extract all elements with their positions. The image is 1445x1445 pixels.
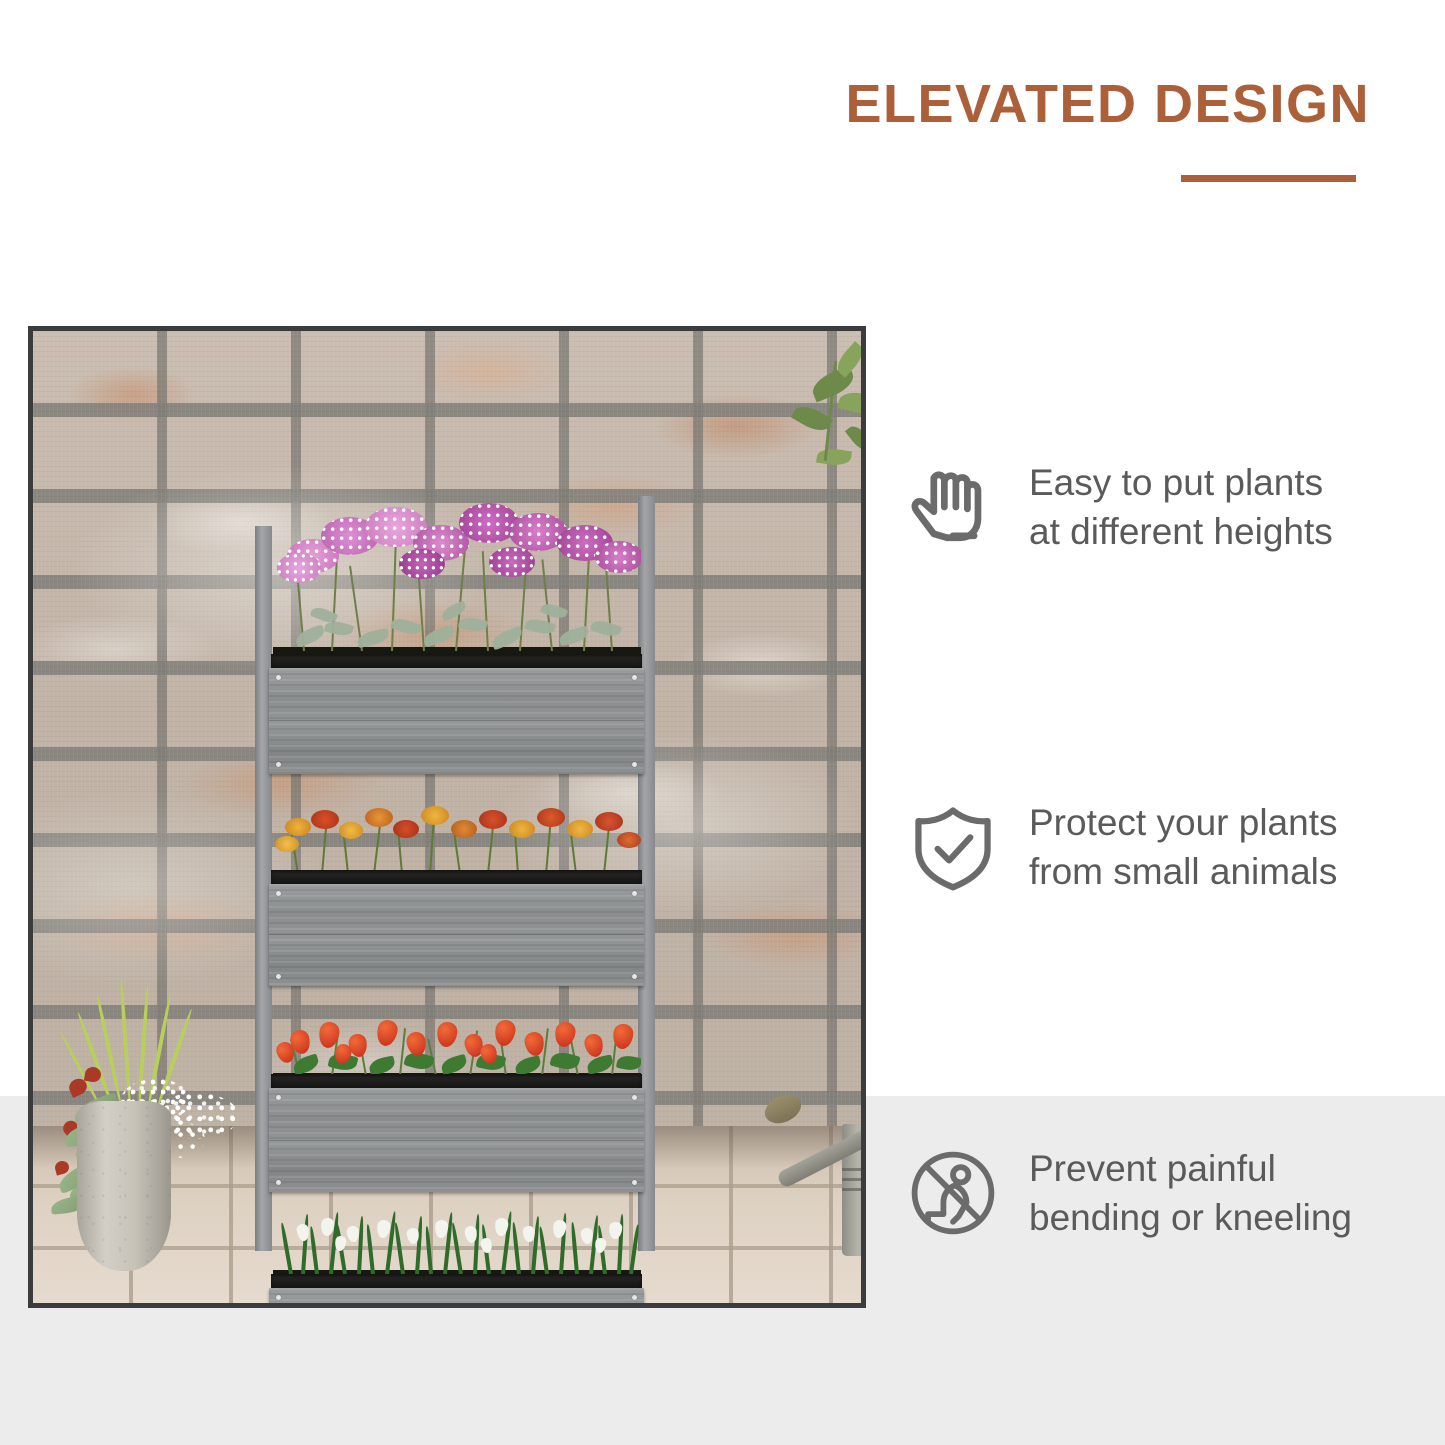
shield-check-icon: [905, 799, 1001, 895]
feature-text: Protect your plants from small animals: [1029, 798, 1337, 896]
title-underline-rule: [1181, 175, 1356, 182]
photo-scene: [33, 331, 861, 1303]
planter-panel-1: [269, 668, 644, 774]
feature-item-easy-heights: Easy to put plants at different heights: [905, 442, 1405, 572]
plant-bed-snowdrops: [273, 1196, 641, 1284]
feature-text: Prevent painful bending or kneeling: [1029, 1144, 1352, 1242]
hand-icon: [905, 459, 1001, 555]
marketing-image-root: ELEVATED DESIGN Easy to put plants at di…: [0, 0, 1445, 1445]
feature-line-1: Prevent painful: [1029, 1144, 1352, 1193]
feature-line-2: bending or kneeling: [1029, 1193, 1352, 1242]
page-title: ELEVATED DESIGN: [800, 72, 1370, 136]
planter-panel-3: [269, 1088, 644, 1192]
watering-can: [828, 1086, 861, 1256]
plant-bed-verbena: [273, 491, 641, 661]
plant-bed-marigold: [273, 774, 641, 882]
planter-panel-2: [269, 884, 644, 986]
feature-item-protect-plants: Protect your plants from small animals: [905, 782, 1405, 912]
planter-panel-4: [269, 1288, 644, 1303]
feature-line-2: at different heights: [1029, 507, 1333, 556]
feature-text: Easy to put plants at different heights: [1029, 458, 1333, 556]
feature-line-2: from small animals: [1029, 847, 1337, 896]
product-photo: [28, 326, 866, 1308]
stone-vase: [77, 1101, 171, 1271]
feature-line-1: Easy to put plants: [1029, 458, 1333, 507]
no-bending-icon: [905, 1145, 1001, 1241]
plant-bed-strawberry: [273, 986, 641, 1086]
feature-item-no-bending: Prevent painful bending or kneeling: [905, 1128, 1405, 1258]
feature-line-1: Protect your plants: [1029, 798, 1337, 847]
raised-garden-planter: [255, 496, 655, 1251]
